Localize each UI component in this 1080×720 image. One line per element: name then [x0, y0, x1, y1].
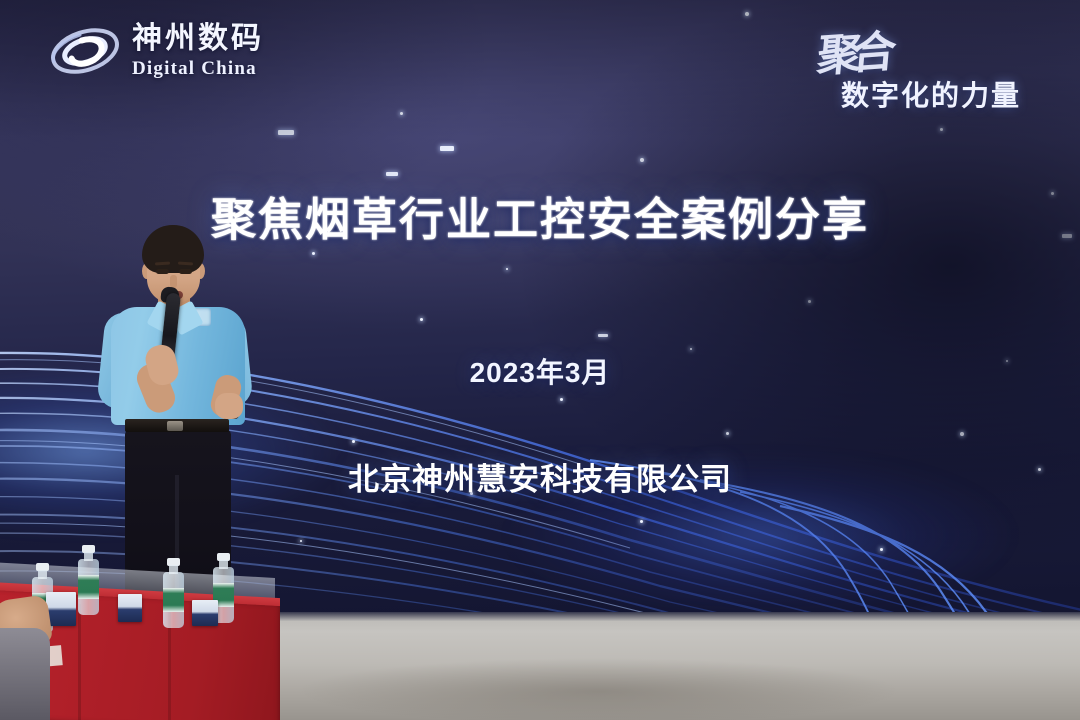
- speaker-right-hand: [215, 393, 243, 419]
- floor-shadow: [250, 648, 1080, 720]
- brand-name-cn: 神州数码: [132, 24, 264, 54]
- speaker-hair: [142, 225, 204, 273]
- light-particle: [352, 440, 355, 443]
- belt-buckle: [167, 421, 183, 431]
- name-card: [118, 594, 142, 622]
- brand-text: 神州数码 Digital China: [132, 24, 264, 78]
- name-card: [46, 592, 76, 626]
- table-cloth-fold: [78, 604, 81, 720]
- light-particle: [640, 520, 643, 523]
- speaker-eye-right: [179, 269, 192, 274]
- light-dash: [598, 334, 608, 337]
- light-dash: [440, 146, 454, 151]
- light-particle: [560, 398, 563, 401]
- light-dash: [278, 130, 294, 135]
- light-dash: [386, 172, 398, 176]
- light-particle: [960, 432, 964, 436]
- light-particle: [726, 432, 729, 435]
- light-particle: [880, 548, 883, 551]
- light-particle: [312, 252, 315, 255]
- event-subtitle: 数字化的力量: [841, 74, 1021, 114]
- conference-stage-photo: 聚焦烟草行业工控安全案例分享 2023年3月 北京神州慧安科技有限公司 神州数码…: [0, 0, 1080, 720]
- brand-logo: 神州数码 Digital China: [48, 18, 264, 84]
- light-particle: [940, 128, 943, 131]
- event-logo: 聚合 数字化的力量: [808, 18, 1058, 114]
- light-particle: [745, 12, 749, 16]
- light-particle: [300, 540, 302, 542]
- speaker-nose: [170, 275, 177, 288]
- light-particle: [506, 268, 508, 270]
- audience-person: [0, 628, 50, 720]
- light-particle: [400, 112, 403, 115]
- brand-name-en: Digital China: [132, 59, 264, 78]
- name-card: [192, 600, 218, 626]
- swirl-spiral-logo-icon: [48, 18, 122, 84]
- light-particle: [640, 158, 644, 162]
- light-particle: [808, 300, 811, 303]
- speaker-eye-left: [156, 269, 169, 274]
- light-particle: [690, 348, 692, 350]
- light-particle: [420, 318, 423, 321]
- table-cloth-fold: [168, 612, 171, 720]
